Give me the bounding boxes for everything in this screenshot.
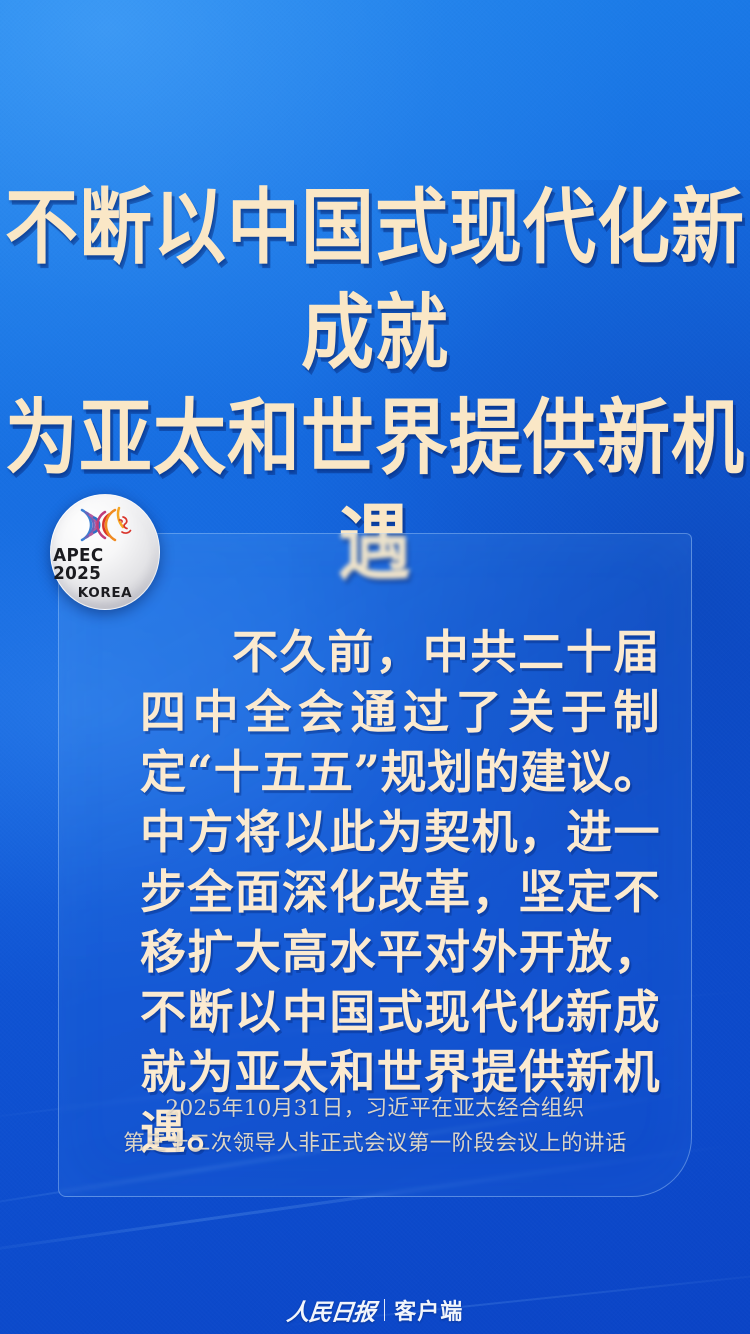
quote-attribution: 2025年10月31日，习近平在亚太经合组织 第三十二次领导人非正式会议第一阶段… — [70, 1092, 680, 1162]
quote-text: 不久前，中共二十届四中全会通过了关于制定“十五五”规划的建议。中方将以此为契机，… — [140, 622, 660, 1162]
apec-emblem-icon — [67, 505, 143, 545]
apec-badge: APEC 2025 KOREA — [50, 494, 160, 610]
footer-branding: 人民日报 客户端 — [0, 1293, 750, 1327]
peoples-daily-wordmark: 人民日报 — [285, 1293, 377, 1327]
apec-badge-host: KOREA — [78, 587, 132, 601]
apec-badge-title: APEC 2025 — [53, 548, 157, 583]
footer-divider — [384, 1299, 386, 1321]
peoples-daily-app-label: 客户端 — [394, 1294, 463, 1326]
